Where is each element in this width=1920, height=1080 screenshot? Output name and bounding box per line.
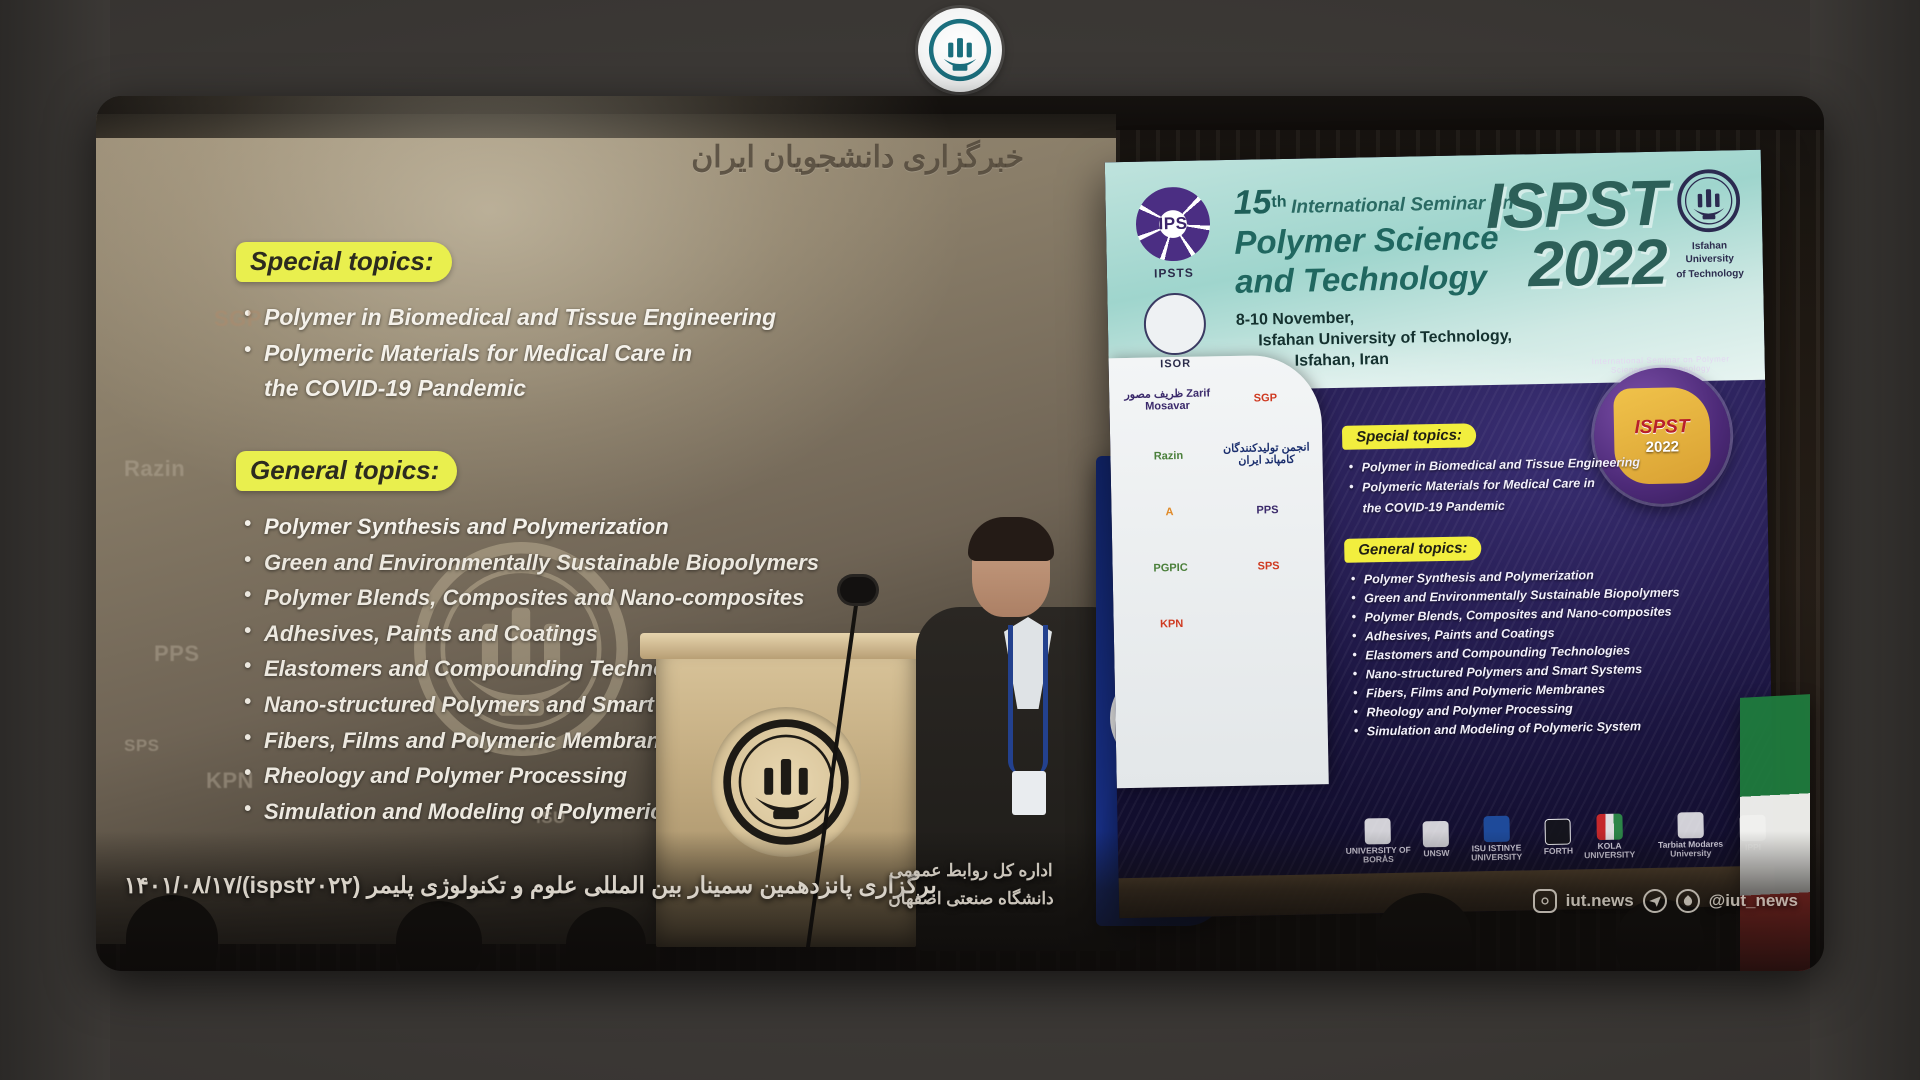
speaker-hair xyxy=(968,517,1054,561)
ispst-poster: IPS IPSTS ISOR 15th International Semina… xyxy=(1105,150,1775,918)
ipsts-caption: IPSTS xyxy=(1131,265,1217,281)
sponsor-sgp: SGP xyxy=(1219,374,1312,422)
sponsor-razin: Razin xyxy=(1122,432,1215,480)
instagram-handle[interactable]: iut.news xyxy=(1566,891,1634,911)
poster-date-venue: 8-10 November, Isfahan University of Tec… xyxy=(1236,304,1567,373)
sponsor-zarif-mosavar: ظریف مصور Zarif Mosavar xyxy=(1121,376,1214,424)
sponsor-pgpic: PGPIC xyxy=(1124,544,1217,592)
bale-icon[interactable] xyxy=(1676,889,1700,913)
screen-header-text: خبرگزاری دانشجویان ایران xyxy=(691,140,1024,175)
social-handles: iut.news @iut_news xyxy=(1533,889,1798,913)
poster-general-heading: General topics: xyxy=(1344,536,1482,563)
poster-kicker: International Seminar on xyxy=(1291,193,1514,218)
slide-special-heading: Special topics: xyxy=(236,242,452,282)
slide-special-list: Polymer in Biomedical and Tissue Enginee… xyxy=(242,300,1076,407)
iut-emblem-icon xyxy=(918,8,1002,92)
host-caption-line2: of Technology xyxy=(1667,268,1753,282)
caption-org-line1: اداره کل روابط عمومی xyxy=(856,857,1086,885)
poster-sponsor-logos: ظریف مصور Zarif Mosavar SGP Razin انجمن … xyxy=(1121,374,1316,648)
istinye-mark-icon xyxy=(1483,815,1509,841)
audience-head xyxy=(396,901,482,971)
poster-topics: Special topics: Polymer in Biomedical an… xyxy=(1342,418,1758,742)
ips-acronym: IPS xyxy=(1135,186,1210,261)
boras-mark-icon xyxy=(1365,818,1391,844)
caption-org-line2: دانشگاه صنعتی اصفهان xyxy=(856,885,1086,913)
sponsor-sps: SPS xyxy=(1222,542,1315,590)
audience-head xyxy=(1376,893,1472,971)
sponsor-kpn: KPN xyxy=(1125,600,1218,648)
list-item: the COVID-19 Pandemic xyxy=(242,371,1076,407)
poster-university-logos: UNIVERSITY OF BORÅS UNSW ISU ISTINYE UNI… xyxy=(1337,806,1766,870)
screen-top-band xyxy=(96,114,1116,138)
uni-label: KOLA UNIVERSITY xyxy=(1584,840,1635,860)
uni-logo-forth: FORTH xyxy=(1543,819,1573,857)
wall-logo-sgp: SGP xyxy=(214,306,262,332)
slide-general-heading: General topics: xyxy=(236,451,457,491)
isor-logo: ISOR xyxy=(1137,292,1212,370)
uni-logo-kola: KOLA UNIVERSITY xyxy=(1577,813,1641,861)
sponsor-a: A xyxy=(1123,488,1216,536)
speaker-lanyard xyxy=(1008,625,1048,775)
uni-logo-boras: UNIVERSITY OF BORÅS xyxy=(1337,817,1418,865)
sponsor-pps: PPS xyxy=(1221,486,1314,534)
telegram-icon[interactable] xyxy=(1643,889,1667,913)
uni-logo-istinye: ISU ISTINYE UNIVERSITY xyxy=(1454,815,1539,863)
audience-head xyxy=(566,907,646,971)
bale-handle[interactable]: @iut_news xyxy=(1709,891,1798,911)
poster-special-heading: Special topics: xyxy=(1342,423,1476,450)
uni-logo-unsw: UNSW xyxy=(1423,821,1450,859)
instagram-icon[interactable] xyxy=(1533,889,1557,913)
speaker-badge xyxy=(1012,771,1046,815)
screenshot-root: خبرگزاری دانشجویان ایران Special topics: xyxy=(0,0,1920,1080)
poster-host-logo: Isfahan University of Technology xyxy=(1665,168,1753,282)
sponsor-iwcpa: انجمن تولیدکنندگان کامپاند ایران xyxy=(1220,430,1313,478)
wall-logo-pps: PPS xyxy=(154,641,200,667)
wall-logo-isu: ISU xyxy=(536,808,566,828)
kola-mark-icon xyxy=(1596,813,1622,839)
uni-label: ISU ISTINYE UNIVERSITY xyxy=(1471,842,1522,862)
poster-general-block: General topics: Polymer Synthesis and Po… xyxy=(1344,531,1758,742)
microphone-icon xyxy=(840,577,876,603)
iut-emblem-icon xyxy=(1676,168,1741,233)
isor-circle-icon xyxy=(1143,292,1206,355)
wall-logo-razin: Razin xyxy=(124,456,185,482)
wall-logo-sps: SPS xyxy=(124,736,160,756)
poster-edition-number: 15 xyxy=(1233,183,1272,222)
frame-edge-right xyxy=(1810,0,1920,1080)
isor-caption: ISOR xyxy=(1139,357,1213,370)
poster-special-list: Polymer in Biomedical and Tissue Enginee… xyxy=(1349,450,1754,518)
audience-head xyxy=(126,895,218,971)
uni-label: Tarbiat Modares University xyxy=(1658,838,1723,858)
poster-year: 2022 xyxy=(1486,232,1667,294)
list-item: Polymer in Biomedical and Tissue Enginee… xyxy=(242,300,1076,336)
podium-top xyxy=(640,633,932,659)
ips-ring-icon: IPS xyxy=(1135,186,1210,261)
host-caption-line1: Isfahan University xyxy=(1666,240,1752,267)
poster-acronym-block: ISPST 2022 xyxy=(1485,174,1667,295)
uni-label: UNIVERSITY OF BORÅS xyxy=(1346,844,1411,864)
wall-logo-kpn: KPN xyxy=(206,768,254,794)
caption-org: اداره کل روابط عمومی دانشگاه صنعتی اصفها… xyxy=(856,857,1086,913)
frame-edge-left xyxy=(0,0,110,1080)
tarbiat-mark-icon xyxy=(1677,812,1703,838)
ips-society-logo: IPS IPSTS xyxy=(1129,186,1217,281)
forth-mark-icon xyxy=(1545,819,1571,845)
unsw-mark-icon xyxy=(1423,821,1449,847)
event-photo: خبرگزاری دانشجویان ایران Special topics: xyxy=(96,96,1824,971)
poster-edition-suffix: th xyxy=(1271,194,1286,211)
poster-general-list: Polymer Synthesis and Polymerization Gre… xyxy=(1351,563,1758,742)
uni-label: UNSW xyxy=(1423,848,1449,858)
caption-main-text: برگزاری پانزدهمین سمینار بین المللی علوم… xyxy=(124,872,937,899)
list-item: Polymeric Materials for Medical Care in xyxy=(242,336,1076,372)
uni-logo-tarbiat-modares: Tarbiat Modares University xyxy=(1646,811,1736,859)
uni-label: FORTH xyxy=(1544,846,1573,857)
iran-flag xyxy=(1740,694,1810,971)
